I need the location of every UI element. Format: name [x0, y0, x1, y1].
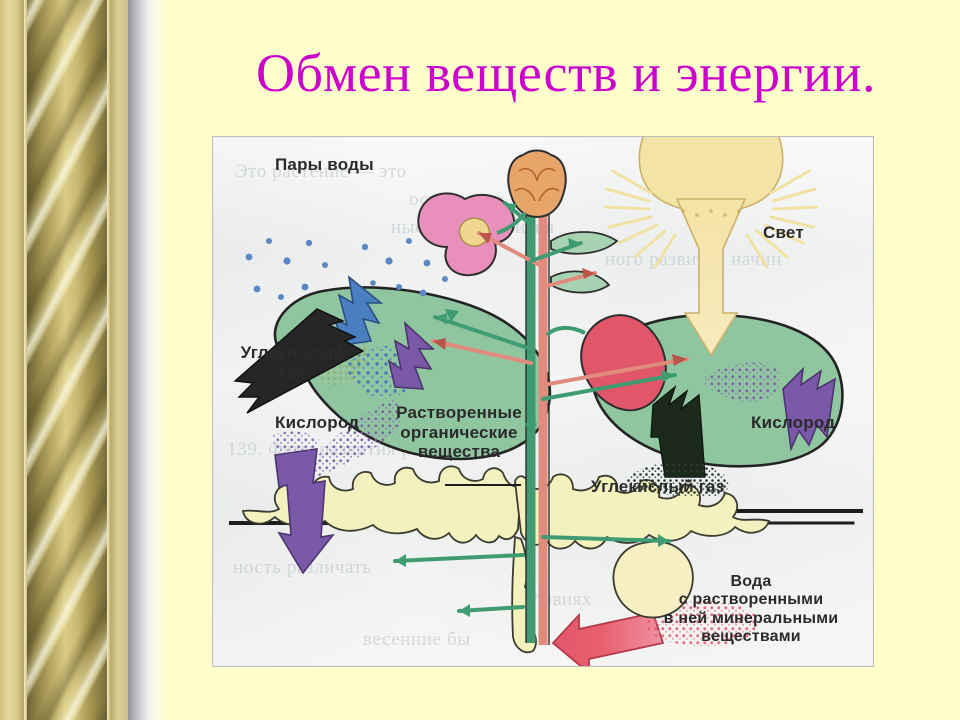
- label-oxygen-left: Кислород: [275, 413, 359, 433]
- plant-metabolism-illustration: Это растение — это ость в орга ные фазы …: [212, 136, 874, 667]
- label-line: Вода: [731, 573, 772, 590]
- label-oxygen-right: Кислород: [751, 413, 835, 433]
- label-line: газ: [279, 363, 305, 382]
- label-line: вещества: [418, 442, 500, 461]
- border-rope-column: [27, 0, 107, 720]
- label-water-vapour: Пары воды: [275, 155, 374, 175]
- flower-bud: [508, 151, 565, 218]
- label-line: в ней минеральными: [664, 610, 839, 627]
- label-line: Углекислый: [241, 343, 344, 362]
- rope-twist-highlights: [27, 0, 107, 720]
- border-band-outer: [0, 0, 24, 720]
- label-dissolved-organics: Растворенные органические вещества: [369, 403, 549, 462]
- label-water-minerals: Вода с растворенными в ней минеральными …: [633, 573, 869, 647]
- border-band-inner: [110, 0, 128, 720]
- label-line: органические: [400, 423, 517, 442]
- page-title: Обмен веществ и энергии.: [186, 46, 946, 100]
- label-line: с растворенными: [679, 591, 823, 608]
- decorative-border: [0, 0, 160, 720]
- label-light: Свет: [763, 223, 804, 243]
- label-carbon-dioxide-right: Углекислый газ: [591, 477, 725, 497]
- label-line: Растворенные: [396, 403, 522, 422]
- slide: Обмен веществ и энергии. Это растение — …: [0, 0, 960, 720]
- label-line: веществами: [701, 628, 801, 645]
- label-carbon-dioxide-left: Углекислый газ: [227, 343, 357, 382]
- border-band-fade: [156, 0, 166, 720]
- border-band-silver: [128, 0, 156, 720]
